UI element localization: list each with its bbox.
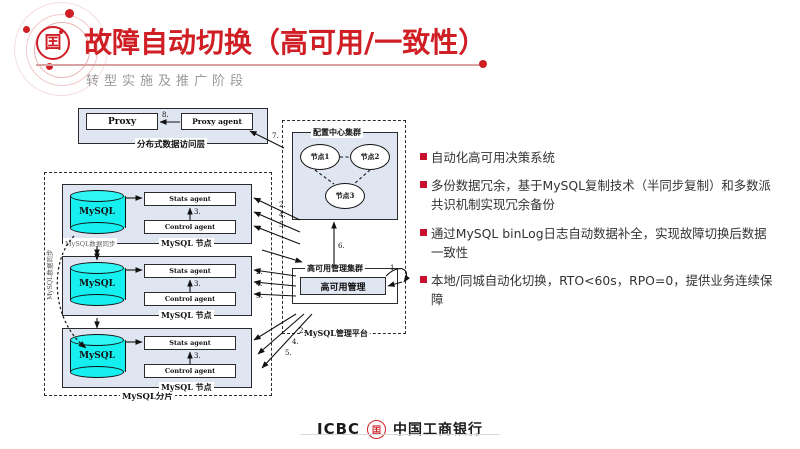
footer-logo-icon: 囯 [367,420,386,439]
bullet-text: 本地/同城自动化切换，RTO<60s，RPO=0，提供业务连续保障 [431,271,778,309]
footer-brand-cn: 中国工商银行 [393,419,483,439]
svg-text:MySQL数据同步: MySQL数据同步 [45,249,54,300]
bullet-text: 多份数据冗余，基于MySQL复制技术（半同步复制）和多数派共识机制实现冗余备份 [431,176,778,214]
bullet-item: 自动化高可用决策系统 [420,148,778,167]
architecture-diagram: Proxy Proxy agent 8. 7. 分布式数据访问层 MySQL分片… [34,100,414,410]
slide-footer: ICBC 囯 中国工商银行 [0,412,800,446]
bullet-list: 自动化高可用决策系统 多份数据冗余，基于MySQL复制技术（半同步复制）和多数派… [420,148,778,319]
bullet-marker-icon [420,181,427,188]
slide-root: 囯 故障自动切换（高可用/一致性） 转型实施及推广阶段 Proxy Proxy … [0,0,800,449]
page-title: 故障自动切换（高可用/一致性） [84,21,486,61]
diagram-connectors: MySQL数据同步 [34,100,414,410]
bullet-marker-icon [420,153,427,160]
bullet-marker-icon [420,229,427,236]
bullet-item: 本地/同城自动化切换，RTO<60s，RPO=0，提供业务连续保障 [420,271,778,309]
title-end-dot-icon [479,60,487,68]
icbc-logo-icon: 囯 [36,26,70,60]
title-underline [36,64,484,66]
footer-divider [300,434,500,435]
slide-header: 囯 故障自动切换（高可用/一致性） 转型实施及推广阶段 [0,0,800,100]
bullet-marker-icon [420,276,427,283]
footer-brand-en: ICBC [317,420,360,438]
page-subtitle: 转型实施及推广阶段 [86,70,248,89]
bullet-item: 多份数据冗余，基于MySQL复制技术（半同步复制）和多数派共识机制实现冗余备份 [420,176,778,214]
bullet-text: 通过MySQL binLog日志自动数据补全，实现故障切换后数据一致性 [431,224,778,262]
bullet-item: 通过MySQL binLog日志自动数据补全，实现故障切换后数据一致性 [420,224,778,262]
bullet-text: 自动化高可用决策系统 [431,148,555,167]
icbc-logo-glyph: 囯 [45,35,62,52]
